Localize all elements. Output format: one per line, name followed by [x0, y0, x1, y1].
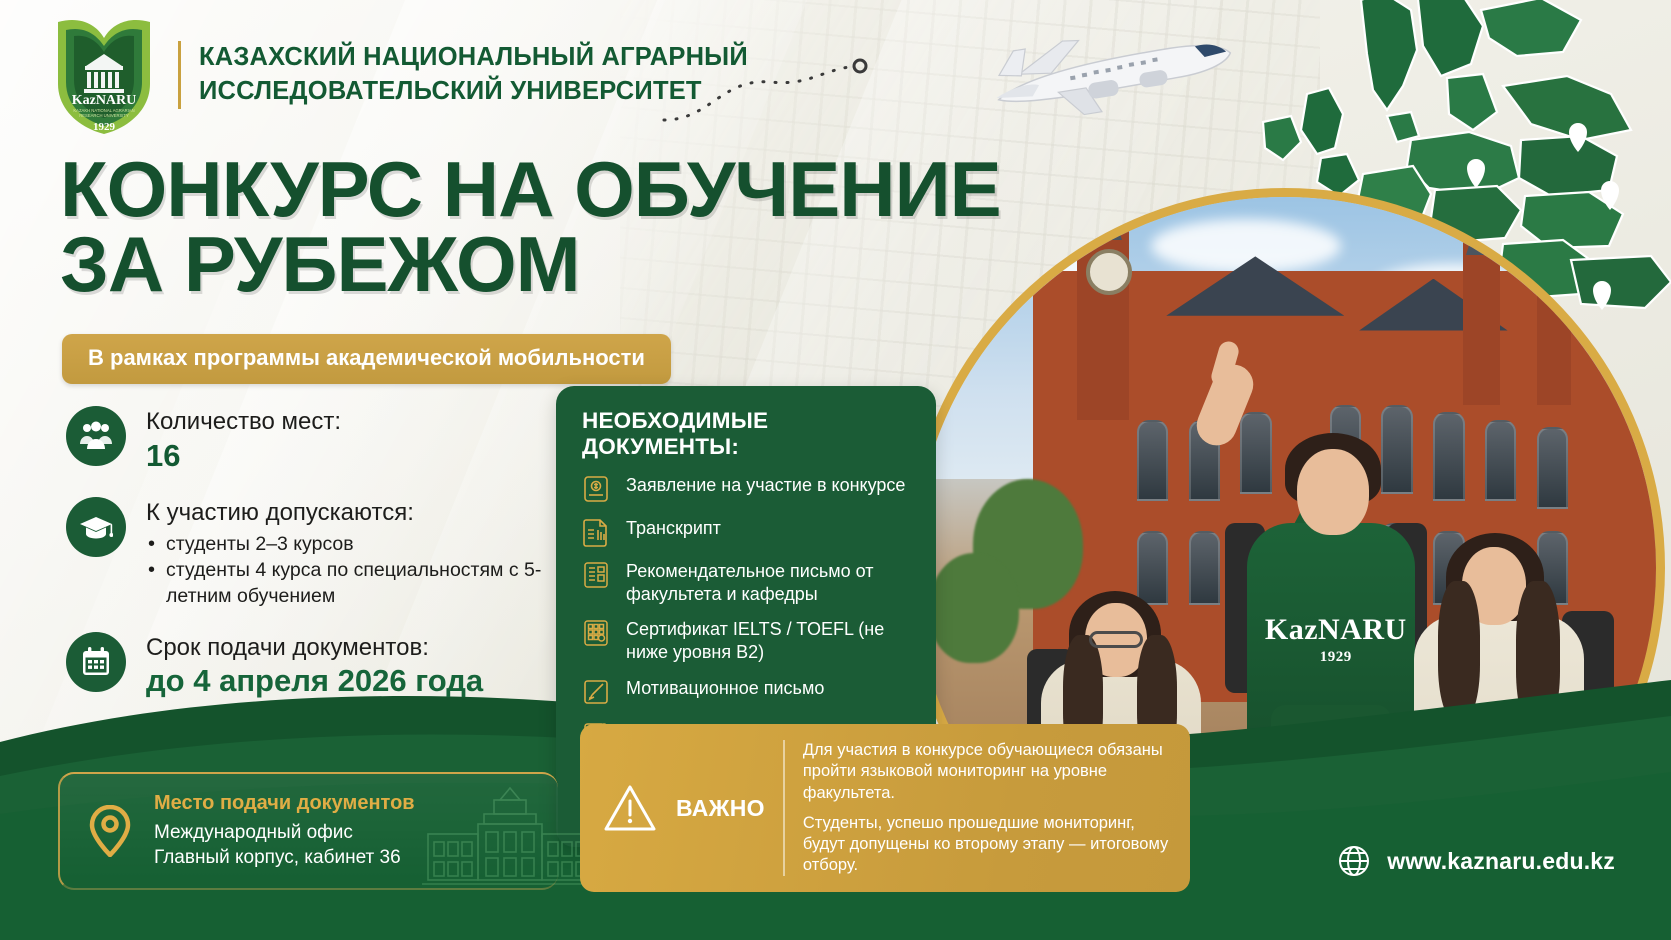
document-item-text: Сертификат IELTS / TOEFL (не ниже уровня…: [626, 618, 914, 663]
fact-places: Количество мест: 16: [66, 406, 546, 475]
fact-places-value: 16: [146, 437, 341, 476]
document-item: Заявление на участие в конкурсе: [582, 474, 914, 504]
document-item-text: Рекомендательное письмо от факультета и …: [626, 560, 914, 605]
subtitle-banner: В рамках программы академической мобильн…: [62, 334, 671, 384]
group-people-icon: [66, 406, 126, 466]
list-item: студенты 4 курса по специальностям с 5-л…: [146, 558, 546, 610]
page-title: КОНКУРС НА ОБУЧЕНИЕ ЗА РУБЕЖОМ: [60, 152, 1001, 302]
globe-icon: [1337, 844, 1371, 878]
headline-line1: КОНКУРС НА ОБУЧЕНИЕ: [60, 152, 1001, 227]
recommendation-letter-icon: [582, 560, 610, 590]
key-facts-list: Количество мест: 16 К участию допускаютс…: [66, 406, 546, 723]
required-documents-heading: НЕОБХОДИМЫЕ ДОКУМЕНТЫ:: [582, 408, 914, 460]
university-name: КАЗАХСКИЙ НАЦИОНАЛЬНЫЙ АГРАРНЫЙ ИССЛЕДОВ…: [178, 41, 748, 108]
eligibility-bullets: студенты 2–3 курсов студенты 4 курса по …: [146, 532, 546, 610]
university-name-line1: КАЗАХСКИЙ НАЦИОНАЛЬНЫЙ АГРАРНЫЙ: [199, 41, 748, 75]
document-item: Сертификат IELTS / TOEFL (не ниже уровня…: [582, 618, 914, 663]
header: KazNARU KAZAKH NATIONAL AGRARIAN RESEARC…: [52, 14, 748, 136]
calendar-icon: [66, 632, 126, 692]
submission-location-card: Место подачи документов Международный оф…: [58, 772, 558, 890]
map-pin-icon: [88, 805, 132, 857]
logo-year: 1929: [93, 121, 116, 133]
list-item: студенты 2–3 курсов: [146, 532, 546, 558]
notice-paragraph-2: Студенты, успешо прошедшие мониторинг, б…: [803, 813, 1170, 876]
location-title: Место подачи документов: [154, 792, 415, 815]
warning-triangle-icon: [602, 781, 658, 835]
document-item: Транскрипт: [582, 517, 914, 547]
fact-eligibility: К участию допускаются: студенты 2–3 курс…: [66, 497, 546, 609]
fact-eligibility-title: К участию допускаются:: [146, 499, 546, 527]
certificate-icon: [582, 618, 610, 648]
document-item: Мотивационное письмо: [582, 677, 914, 707]
fact-deadline: Срок подачи документов: до 4 апреля 2026…: [66, 632, 546, 701]
document-item-text: Транскрипт: [626, 517, 721, 540]
headline-line2: ЗА РУБЕЖОМ: [60, 227, 1001, 302]
graduation-cap-icon: [66, 497, 126, 557]
poster-root: KazNARU 1929: [0, 0, 1671, 940]
motivation-letter-icon: [582, 677, 610, 707]
website-url: www.kaznaru.edu.kz: [1387, 848, 1615, 875]
location-line2: Главный корпус, кабинет 36: [154, 846, 415, 871]
fact-deadline-value: до 4 апреля 2026 года: [146, 662, 483, 701]
notice-text: Для участия в конкурсе обучающиеся обяза…: [803, 740, 1170, 876]
document-item-text: Заявление на участие в конкурсе: [626, 474, 905, 497]
university-logo: KazNARU KAZAKH NATIONAL AGRARIAN RESEARC…: [52, 14, 156, 136]
notice-paragraph-1: Для участия в конкурсе обучающиеся обяза…: [803, 740, 1170, 803]
location-line1: Международный офис: [154, 821, 415, 846]
important-notice: ВАЖНО Для участия в конкурсе обучающиеся…: [580, 724, 1190, 892]
document-item: Рекомендательное письмо от факультета и …: [582, 560, 914, 605]
website-link[interactable]: www.kaznaru.edu.kz: [1337, 844, 1615, 878]
university-name-line2: ИССЛЕДОВАТЕЛЬСКИЙ УНИВЕРСИТЕТ: [199, 75, 748, 109]
fact-places-title: Количество мест:: [146, 408, 341, 436]
application-document-icon: [582, 474, 610, 504]
transcript-icon: [582, 517, 610, 547]
airplane-icon: [960, 18, 1260, 128]
document-item-text: Мотивационное письмо: [626, 677, 824, 700]
logo-wordmark: KazNARU: [72, 93, 137, 108]
svg-text:RESEARCH UNIVERSITY: RESEARCH UNIVERSITY: [79, 113, 129, 118]
notice-label: ВАЖНО: [676, 740, 785, 876]
fact-deadline-title: Срок подачи документов:: [146, 634, 483, 662]
